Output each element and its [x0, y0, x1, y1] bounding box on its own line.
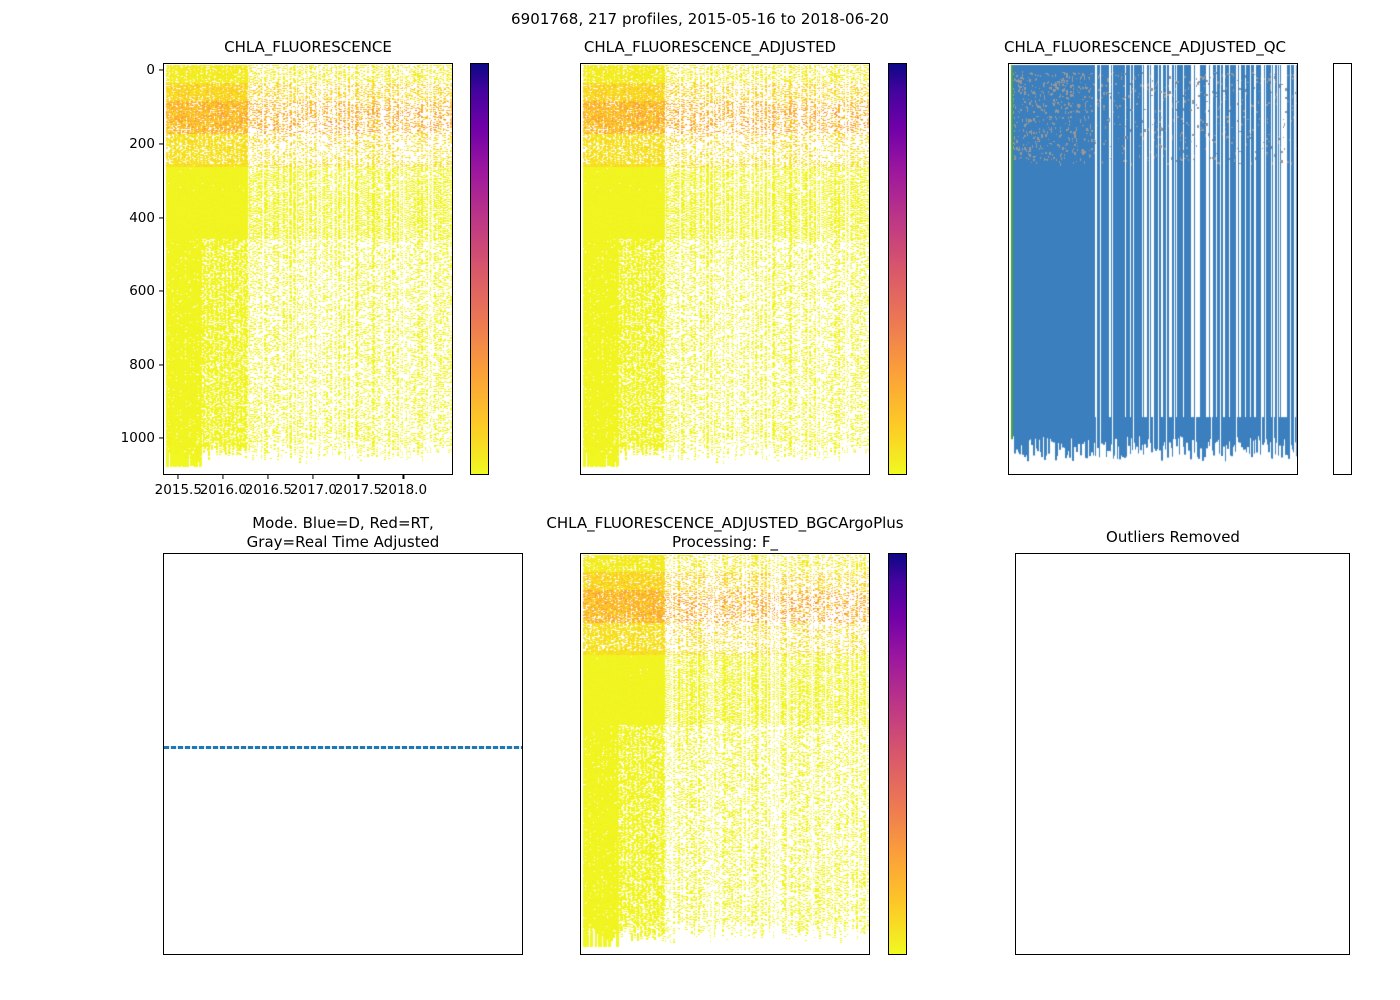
figure-suptitle: 6901768, 217 profiles, 2015-05-16 to 201… [0, 10, 1400, 28]
x-tick-label: 2018.0 [380, 482, 427, 498]
y-tick-label: 800 [115, 357, 155, 373]
x-tick-label: 2017.0 [290, 482, 337, 498]
colorbar-qc [1333, 63, 1352, 475]
x-tick-mark [403, 475, 404, 479]
panel-title-outliers-removed: Outliers Removed [1008, 528, 1338, 547]
colorbar-bgcargoplus [888, 553, 907, 955]
colorbar-chla-fluorescence [470, 63, 489, 475]
plot-area-chla-fluorescence-adjusted[interactable] [580, 63, 870, 475]
heatmap-layer [581, 554, 869, 954]
y-tick-label: 400 [115, 210, 155, 226]
panel-title-chla-fluorescence-adjusted-qc: CHLA_FLUORESCENCE_ADJUSTED_QC [960, 38, 1330, 57]
panel-title-mode-line1: Mode. Blue=D, Red=RT, [163, 514, 523, 533]
x-tick-label: 2016.5 [245, 482, 292, 498]
figure-canvas: 6901768, 217 profiles, 2015-05-16 to 201… [0, 0, 1400, 1000]
plot-area-bgcargoplus[interactable] [580, 553, 870, 955]
x-tick-mark [313, 475, 314, 479]
x-tick-label: 2015.5 [155, 482, 202, 498]
y-tick-label: 600 [115, 283, 155, 299]
heatmap-canvas [164, 64, 453, 475]
x-tick-label: 2016.0 [200, 482, 247, 498]
qc-heatmap-canvas [1009, 64, 1298, 475]
y-tick-mark [159, 438, 163, 439]
y-tick-label: 200 [115, 136, 155, 152]
y-tick-mark [159, 364, 163, 365]
y-tick-label: 1000 [115, 430, 155, 446]
x-tick-mark [268, 475, 269, 479]
heatmap-canvas [581, 554, 870, 955]
heatmap-canvas [581, 64, 870, 475]
x-tick-mark [358, 475, 359, 479]
y-tick-mark [159, 217, 163, 218]
panel-title-chla-fluorescence: CHLA_FLUORESCENCE [163, 38, 453, 57]
y-tick-mark [159, 291, 163, 292]
panel-title-mode-line2: Gray=Real Time Adjusted [163, 533, 523, 552]
plot-area-outliers-removed[interactable] [1015, 553, 1350, 955]
panel-title-mode: Mode. Blue=D, Red=RT, Gray=Real Time Adj… [163, 514, 523, 552]
plot-area-chla-fluorescence[interactable] [163, 63, 453, 475]
y-tick-label: 0 [115, 62, 155, 78]
x-tick-mark [178, 475, 179, 479]
panel-title-chla-fluorescence-adjusted: CHLA_FLUORESCENCE_ADJUSTED [550, 38, 870, 57]
plot-area-mode[interactable] [163, 553, 523, 955]
x-tick-label: 2017.5 [335, 482, 382, 498]
heatmap-layer [581, 64, 869, 474]
panel-title-bgcargoplus: CHLA_FLUORESCENCE_ADJUSTED_BGCArgoPlus P… [528, 514, 922, 552]
qc-heatmap-layer [1009, 64, 1297, 474]
colorbar-chla-fluorescence-adjusted [888, 63, 907, 475]
heatmap-layer [164, 64, 452, 474]
x-tick-mark [223, 475, 224, 479]
panel-title-bgcargoplus-line1: CHLA_FLUORESCENCE_ADJUSTED_BGCArgoPlus [528, 514, 922, 533]
mode-series-real-time-adjusted [164, 746, 522, 749]
y-tick-mark [159, 143, 163, 144]
plot-area-chla-fluorescence-adjusted-qc[interactable] [1008, 63, 1298, 475]
y-tick-mark [159, 70, 163, 71]
panel-title-bgcargoplus-line2: Processing: F_ [528, 533, 922, 552]
